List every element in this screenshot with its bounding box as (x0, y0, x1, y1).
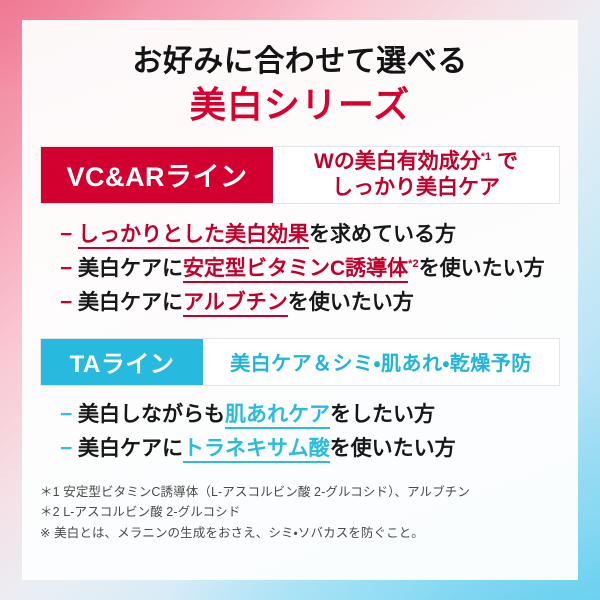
bullet-highlight: 肌あれケア (225, 403, 330, 429)
bullet-prefix: 美白ケアに (78, 437, 183, 460)
section-description-line1: Wの美白有効成分*1 で (314, 149, 518, 175)
bullet-dash-icon: − (60, 218, 78, 252)
bullet-dash-icon: − (60, 432, 78, 466)
section-description-line1-text: Wの美白有効成分 (314, 150, 481, 173)
section-tag-vc-ar: VC&ARライン (41, 147, 273, 203)
section-description-line2: しっかり美白ケア (332, 175, 500, 201)
bullet-text: 美白ケアに安定型ビタミンC誘導体*2を使いたい方 (78, 252, 545, 286)
list-item: − 美白ケアに安定型ビタミンC誘導体*2を使いたい方 (40, 252, 560, 286)
bullet-list-ta: − 美白しながらも肌あれケアをしたい方 − 美白ケアにトラネキサム酸を使いたい方 (40, 386, 560, 466)
section-description-ta: 美白ケア＆シミ・肌あれ・乾燥予防 (203, 339, 559, 385)
footnote-line: ＊2 L-アスコルビン酸 2-グルコシド (40, 502, 560, 523)
bullet-prefix: 美白しながらも (78, 403, 225, 426)
bullet-suffix: を求めている方 (309, 223, 456, 246)
bullet-suffix: を使いたい方 (288, 291, 414, 314)
title-heading: 美白シリーズ (22, 83, 578, 126)
footnotes: ＊1 安定型ビタミンC誘導体（L-アスコルビン酸 2-グルコシド）、アルブチン … (40, 466, 560, 544)
list-item: − 美白ケアにトラネキサム酸を使いたい方 (40, 432, 560, 466)
bullet-text: 美白ケアにトラネキサム酸を使いたい方 (78, 432, 456, 466)
section-tag-ta: TAライン (41, 339, 203, 385)
bullet-suffix: を使いたい方 (419, 257, 545, 280)
section-banner-ta: TAライン 美白ケア＆シミ・肌あれ・乾燥予防 (40, 338, 560, 386)
footnote-line: ※ 美白とは、メラニンの生成をおさえ、シミ・ソバカスを防ぐこと。 (40, 523, 560, 544)
bullet-prefix: 美白ケアに (78, 257, 183, 280)
footnote-marker-2: *2 (408, 258, 418, 270)
footnote-line: ＊1 安定型ビタミンC誘導体（L-アスコルビン酸 2-グルコシド）、アルブチン (40, 482, 560, 503)
infographic-canvas: お好みに合わせて選べる 美白シリーズ VC&ARライン Wの美白有効成分*1 で… (0, 0, 600, 600)
bullet-dash-icon: − (60, 286, 78, 320)
section-description-line1-tail: で (497, 150, 518, 173)
title-subheading: お好みに合わせて選べる (22, 44, 578, 81)
bullet-highlight: しっかりとした美白効果 (78, 223, 309, 249)
bullet-text: しっかりとした美白効果を求めている方 (78, 218, 456, 252)
bullet-suffix: をしたい方 (330, 403, 435, 426)
list-item: − 美白ケアにアルブチンを使いたい方 (40, 286, 560, 320)
content-card: お好みに合わせて選べる 美白シリーズ VC&ARライン Wの美白有効成分*1 で… (22, 20, 578, 580)
footnote-marker-1: *1 (481, 151, 491, 163)
bullet-highlight: トラネキサム酸 (183, 437, 330, 463)
bullet-highlight: 安定型ビタミンC誘導体 (183, 257, 408, 283)
page-title: お好みに合わせて選べる 美白シリーズ (22, 20, 578, 126)
section-banner-vc-ar: VC&ARライン Wの美白有効成分*1 で しっかり美白ケア (40, 146, 560, 204)
bullet-list-vc-ar: − しっかりとした美白効果を求めている方 − 美白ケアに安定型ビタミンC誘導体*… (40, 204, 560, 320)
list-item: − 美白しながらも肌あれケアをしたい方 (40, 398, 560, 432)
bullet-prefix: 美白ケアに (78, 291, 183, 314)
bullet-text: 美白ケアにアルブチンを使いたい方 (78, 286, 414, 320)
bullet-dash-icon: − (60, 398, 78, 432)
bullet-text: 美白しながらも肌あれケアをしたい方 (78, 398, 435, 432)
section-description-vc-ar: Wの美白有効成分*1 で しっかり美白ケア (273, 147, 559, 203)
list-item: − しっかりとした美白効果を求めている方 (40, 218, 560, 252)
bullet-dash-icon: − (60, 252, 78, 286)
bullet-suffix: を使いたい方 (330, 437, 456, 460)
bullet-highlight: アルブチン (183, 291, 288, 317)
